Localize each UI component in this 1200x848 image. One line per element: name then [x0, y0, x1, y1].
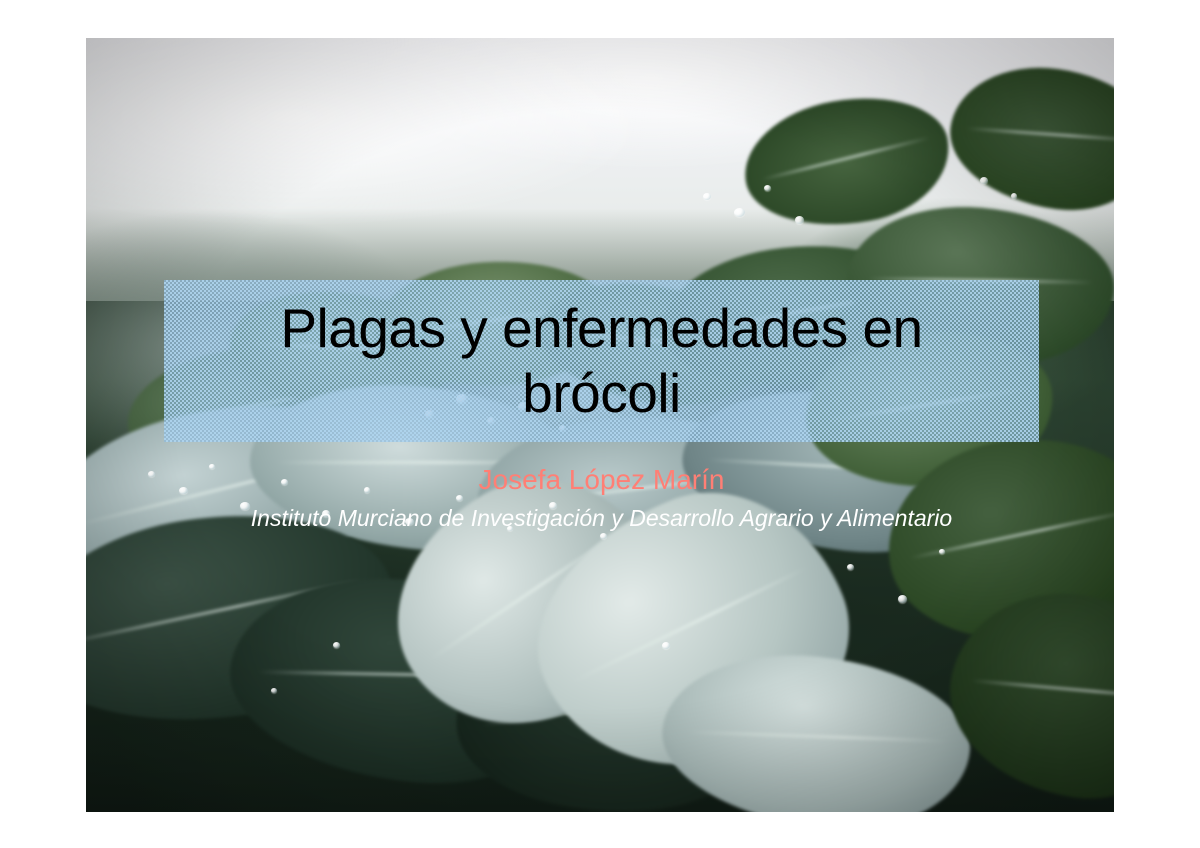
institute-name: Instituto Murciano de Investigación y De… [164, 503, 1039, 533]
page-title-line-2: brócoli [164, 361, 1039, 426]
dew-drop [333, 642, 340, 648]
slide-page: Plagas y enfermedades en brócoli Josefa … [0, 0, 1200, 848]
title-overlay-band: Plagas y enfermedades en brócoli [164, 280, 1039, 442]
author-name: Josefa López Marín [164, 462, 1039, 497]
page-title-line-1: Plagas y enfermedades en [164, 296, 1039, 361]
page-title: Plagas y enfermedades en brócoli [164, 296, 1039, 426]
dew-drop [1011, 193, 1017, 199]
byline: Josefa López Marín Instituto Murciano de… [164, 462, 1039, 533]
dew-drop [703, 193, 711, 200]
dew-drop [734, 208, 745, 217]
dew-drop [662, 642, 670, 649]
